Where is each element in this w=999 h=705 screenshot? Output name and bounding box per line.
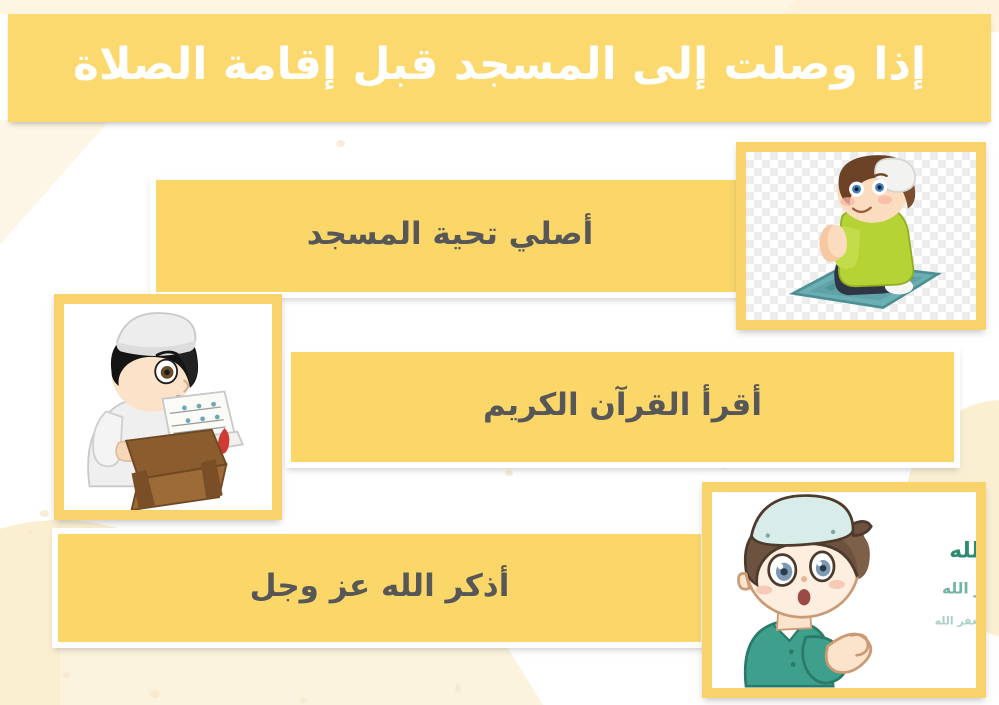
- background-speck: [150, 690, 160, 698]
- picture-boy-dhikr-icon: أستغفر الله أستغفر الله أستغفر الله: [712, 492, 976, 688]
- background-speck: [40, 510, 49, 517]
- background-speck: [336, 140, 345, 147]
- content-row-1-label: أصلي تحية المسجد: [307, 216, 593, 256]
- background-speck: [300, 698, 307, 704]
- content-row-3-fill: أذكر الله عز وجل: [58, 534, 701, 642]
- dhikr-line-1: أستغفر الله: [949, 534, 976, 563]
- content-row-2-fill: أقرأ القرآن الكريم: [291, 352, 954, 462]
- background-speck: [28, 530, 33, 535]
- picture-frame-boy-dhikr: أستغفر الله أستغفر الله أستغفر الله: [702, 482, 986, 698]
- picture-frame-boy-praying: [736, 142, 986, 330]
- dhikr-line-2: أستغفر الله: [942, 579, 976, 598]
- background-top-band: [0, 0, 999, 14]
- content-row-3: أذكر الله عز وجل: [52, 528, 707, 648]
- background-speck: [62, 672, 70, 678]
- content-row-3-label: أذكر الله عز وجل: [250, 568, 510, 608]
- slide-title-banner: إذا وصلت إلى المسجد قبل إقامة الصلاة: [8, 14, 991, 122]
- background-speck: [455, 684, 461, 693]
- content-row-2: أقرأ القرآن الكريم: [285, 346, 960, 468]
- background-speck: [505, 470, 513, 476]
- dhikr-line-3: أستغفر الله: [935, 613, 976, 627]
- picture-boy-reading-quran-icon: [64, 304, 272, 510]
- picture-boy-praying-icon: [746, 152, 976, 320]
- page-title: إذا وصلت إلى المسجد قبل إقامة الصلاة: [73, 41, 926, 95]
- content-row-1-fill: أصلي تحية المسجد: [156, 180, 744, 292]
- content-row-1: أصلي تحية المسجد: [150, 174, 750, 298]
- picture-frame-boy-reading-quran: [54, 294, 282, 520]
- background-left-wedge: [0, 120, 110, 290]
- content-row-2-label: أقرأ القرآن الكريم: [483, 387, 762, 427]
- slide-canvas: إذا وصلت إلى المسجد قبل إقامة الصلاة أصل…: [0, 0, 999, 705]
